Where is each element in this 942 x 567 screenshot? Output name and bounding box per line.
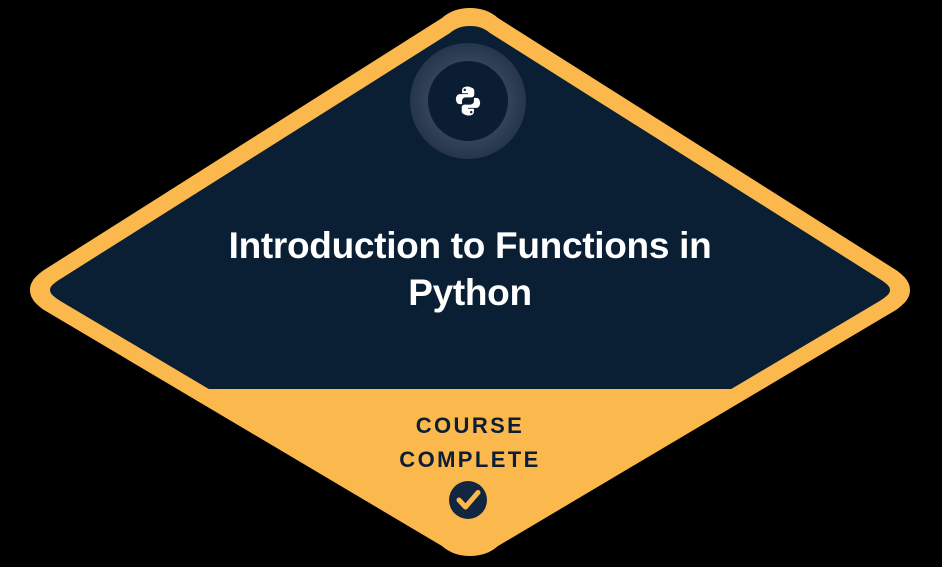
course-completion-badge: Introduction to Functions in Python COUR… — [0, 0, 942, 567]
check-circle-icon — [449, 481, 487, 519]
halo-inner-circle — [428, 61, 508, 141]
badge-graphic — [0, 0, 942, 567]
